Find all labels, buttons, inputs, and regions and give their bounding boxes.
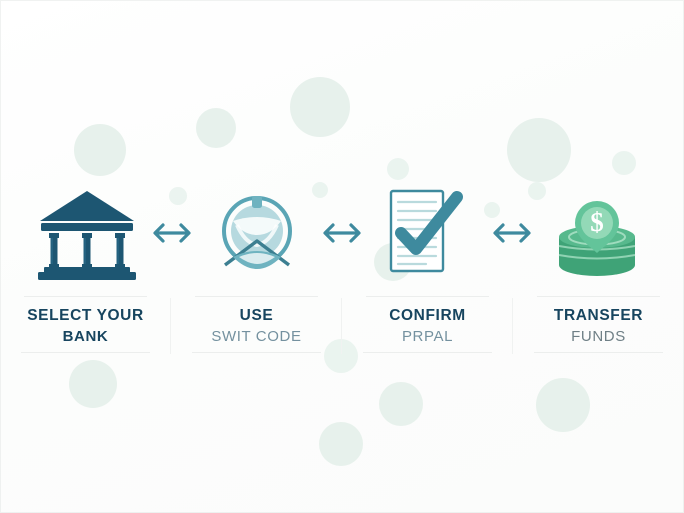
steps-label-row: SELECT YOUR BANK USE SWIT CODE CONFIRM P… <box>0 296 684 358</box>
connector-arrow-1 <box>146 213 198 253</box>
label-top-rule <box>24 296 147 297</box>
step-2-icon <box>198 180 316 286</box>
label-bottom-rules <box>0 352 684 354</box>
step-4-label-line1: TRANSFER <box>513 306 684 326</box>
step-2-label-line2: SWIT CODE <box>171 326 342 347</box>
step-1-label-line1: SELECT YOUR <box>0 306 171 326</box>
step-3-label-line2: PRPAL <box>342 326 513 347</box>
step-3-label-line1: CONFIRM <box>342 306 513 326</box>
decorative-circle <box>387 158 409 180</box>
svg-text:$: $ <box>590 207 604 237</box>
label-top-rule <box>537 296 660 297</box>
step-4-label-line2: FUNDS <box>513 326 684 347</box>
infographic-canvas: $ SELECT YOUR BANK USE SWIT CODE CONFIRM… <box>0 0 684 513</box>
money-stack-icon: $ <box>547 183 647 283</box>
step-4-label: TRANSFER FUNDS <box>513 296 684 358</box>
decorative-circle <box>74 124 126 176</box>
globe-network-icon <box>211 187 303 279</box>
bottom-rule-4 <box>513 352 684 354</box>
connector-arrow-2 <box>316 213 368 253</box>
step-4-icon: $ <box>538 180 656 286</box>
decorative-circle <box>196 108 236 148</box>
bottom-rule-2 <box>171 352 342 354</box>
decorative-circle <box>612 151 636 175</box>
step-1-icon <box>28 180 146 286</box>
decorative-circle <box>290 77 350 137</box>
bank-building-icon <box>35 185 139 281</box>
step-2-label: USE SWIT CODE <box>171 296 342 358</box>
step-3-label: CONFIRM PRPAL <box>342 296 513 358</box>
double-arrow-icon <box>319 218 365 248</box>
decorative-circle <box>319 422 363 466</box>
step-1-label: SELECT YOUR BANK <box>0 296 171 358</box>
document-checkmark-icon <box>377 183 477 283</box>
steps-icon-row: $ <box>0 178 684 288</box>
decorative-circle <box>69 360 117 408</box>
step-1-label-line2: BANK <box>0 326 171 347</box>
bottom-rule-3 <box>342 352 513 354</box>
double-arrow-icon <box>149 218 195 248</box>
decorative-circle <box>507 118 571 182</box>
connector-arrow-3 <box>486 213 538 253</box>
bottom-rule-1 <box>0 352 171 354</box>
label-top-rule <box>195 296 318 297</box>
decorative-circle <box>379 382 423 426</box>
step-3-icon <box>368 180 486 286</box>
double-arrow-icon <box>489 218 535 248</box>
step-2-label-line1: USE <box>171 306 342 326</box>
decorative-circle <box>536 378 590 432</box>
label-top-rule <box>366 296 489 297</box>
